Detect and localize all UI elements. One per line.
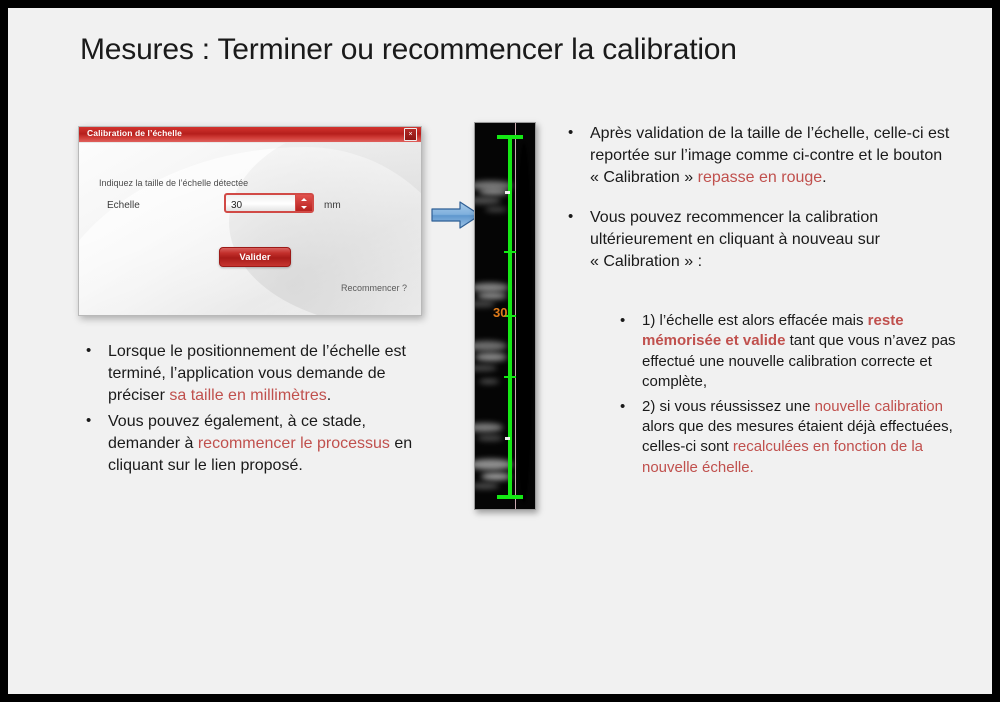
restart-link[interactable]: Recommencer ? bbox=[341, 283, 407, 293]
list-item-text: 1) l’échelle est alors effacée mais rest… bbox=[642, 311, 964, 393]
text-run: . bbox=[327, 387, 331, 404]
highlight-run: nouvelle calibration bbox=[815, 398, 943, 415]
bullet-glyph: • bbox=[568, 207, 590, 273]
scale-tick-minor bbox=[505, 191, 510, 194]
text-run: 1) l’échelle est alors effacée mais bbox=[642, 312, 868, 329]
text-run: 2) si vous réussissez une bbox=[642, 398, 815, 415]
list-item: •1) l’échelle est alors effacée mais res… bbox=[620, 311, 964, 393]
scale-tick bbox=[504, 251, 516, 253]
dialog-hint-label: Indiquez la taille de l’échelle détectée bbox=[99, 178, 248, 188]
highlight-run: sa taille en millimètres bbox=[169, 387, 326, 404]
scale-input[interactable] bbox=[229, 196, 293, 214]
scale-value-label: 30 bbox=[493, 305, 507, 320]
text-run: . bbox=[822, 169, 826, 186]
bullet-glyph: • bbox=[86, 411, 108, 477]
list-item-text: Après validation de la taille de l’échel… bbox=[590, 123, 960, 189]
list-item: •2) si vous réussissez une nouvelle cali… bbox=[620, 397, 964, 479]
stepper-down-icon[interactable] bbox=[296, 203, 312, 211]
bullet-glyph: • bbox=[620, 311, 642, 393]
ultrasound-image: 30 bbox=[474, 122, 536, 510]
list-item: •Lorsque le positionnement de l’échelle … bbox=[86, 341, 416, 407]
scale-line bbox=[508, 135, 512, 499]
scale-tick-minor bbox=[505, 437, 510, 440]
list-item-text: Vous pouvez recommencer la calibration u… bbox=[590, 207, 960, 273]
right-text-block: •Après validation de la taille de l’éche… bbox=[568, 123, 960, 277]
validate-button[interactable]: Valider bbox=[219, 247, 291, 267]
dialog-title-text: Calibration de l’échelle bbox=[87, 128, 182, 138]
sub-text-block: •1) l’échelle est alors effacée mais res… bbox=[620, 311, 964, 482]
unit-label: mm bbox=[324, 200, 341, 211]
left-text-block: •Lorsque le positionnement de l’échelle … bbox=[86, 341, 416, 481]
scale-stepper[interactable] bbox=[295, 195, 312, 211]
highlight-run: repasse en rouge bbox=[698, 169, 823, 186]
dialog-titlebar: Calibration de l’échelle × bbox=[79, 127, 421, 143]
bullet-glyph: • bbox=[620, 397, 642, 479]
page-title: Mesures : Terminer ou recommencer la cal… bbox=[80, 33, 940, 67]
stepper-up-icon[interactable] bbox=[296, 195, 312, 203]
list-item: •Vous pouvez également, à ce stade, dema… bbox=[86, 411, 416, 477]
list-item-text: Lorsque le positionnement de l’échelle e… bbox=[108, 341, 416, 407]
scale-cap-bottom bbox=[497, 495, 523, 499]
close-icon[interactable]: × bbox=[404, 128, 417, 141]
text-run: Vous pouvez recommencer la calibration u… bbox=[590, 209, 880, 270]
scale-field-label: Echelle bbox=[107, 200, 140, 211]
list-item-text: Vous pouvez également, à ce stade, deman… bbox=[108, 411, 416, 477]
highlight-run: recommencer le processus bbox=[198, 435, 390, 452]
list-item: •Après validation de la taille de l’éche… bbox=[568, 123, 960, 189]
slide-canvas: Mesures : Terminer ou recommencer la cal… bbox=[8, 8, 992, 694]
calibration-dialog: Calibration de l’échelle × Indiquez la t… bbox=[78, 126, 422, 316]
spacer bbox=[568, 193, 960, 207]
scale-cap-top bbox=[497, 135, 523, 139]
list-item-text: 2) si vous réussissez une nouvelle calib… bbox=[642, 397, 964, 479]
bullet-glyph: • bbox=[568, 123, 590, 189]
scale-tick bbox=[504, 376, 516, 378]
bullet-glyph: • bbox=[86, 341, 108, 407]
scale-input-wrapper[interactable] bbox=[224, 193, 314, 213]
list-item: •Vous pouvez recommencer la calibration … bbox=[568, 207, 960, 273]
